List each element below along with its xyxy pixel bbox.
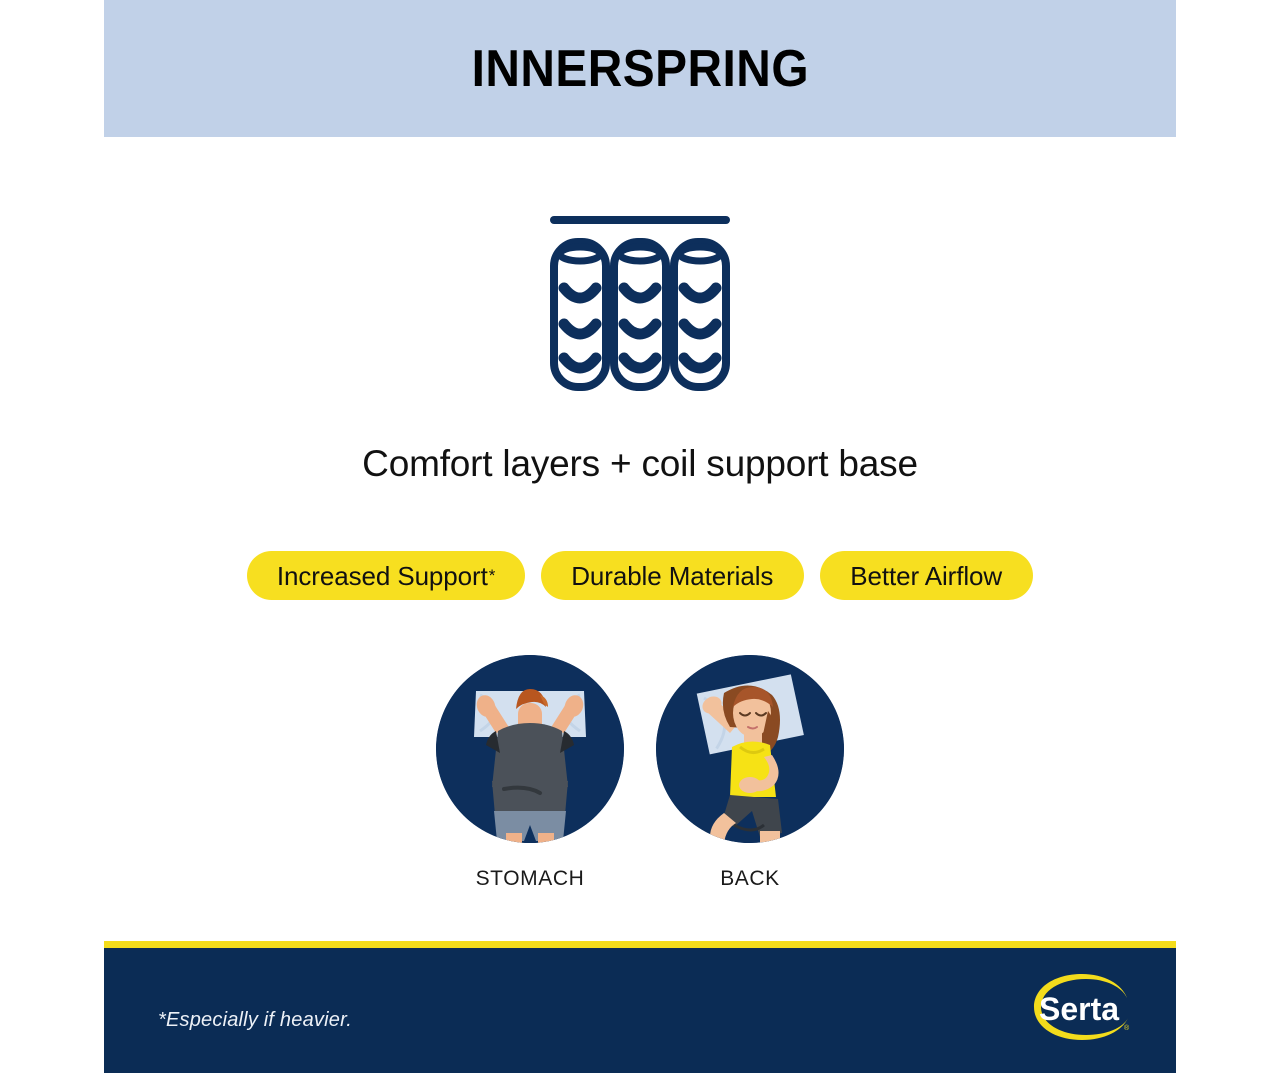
sleep-position-list: STOMACH [104,655,1176,891]
feature-pill-label: Better Airflow [850,563,1002,589]
coil-stack-icon [540,200,740,392]
back-sleeper-circle [656,655,844,843]
coil-cylinder-2 [614,242,666,387]
sleep-position-label: STOMACH [476,867,585,891]
stomach-sleeper-circle [436,655,624,843]
registered-mark-icon: ® [1124,1024,1130,1032]
sleep-position-back: BACK [656,655,844,891]
header-band: INNERSPRING [104,0,1176,137]
back-sleeper-illustration [656,655,844,843]
feature-pill-label: Increased Support [277,563,488,589]
feature-pill-durable-materials[interactable]: Durable Materials [541,551,804,600]
sleep-position-label: BACK [720,867,780,891]
footnote-text: *Especially if heavier. [158,1009,352,1032]
coil-cylinder-3 [674,242,726,387]
stomach-sleeper-illustration [436,655,624,843]
feature-pill-list: Increased Support* Durable Materials Bet… [104,551,1176,600]
hero-tagline: Comfort layers + coil support base [104,443,1176,485]
feature-pill-increased-support[interactable]: Increased Support* [247,551,525,600]
serta-logo[interactable]: Serta ® [1028,968,1136,1046]
hero-icon-container [104,200,1176,392]
coil-cylinder-1 [554,242,606,387]
footer-bar: *Especially if heavier. Serta ® [104,941,1176,1073]
feature-pill-label: Durable Materials [571,563,773,589]
coil-top-bar [550,216,730,224]
serta-wordmark: Serta [1039,991,1119,1027]
innerspring-info-card: INNERSPRING [104,0,1176,1073]
feature-pill-better-airflow[interactable]: Better Airflow [820,551,1033,600]
sleep-position-stomach: STOMACH [436,655,624,891]
page-title: INNERSPRING [471,39,808,99]
